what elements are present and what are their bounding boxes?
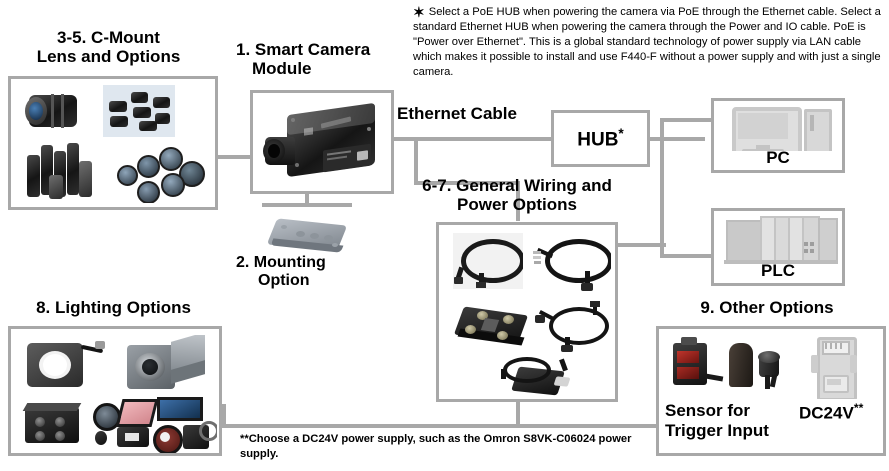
heading-mounting-line1: 2. Mounting — [236, 254, 376, 272]
label-sensor-line1: Sensor for — [665, 401, 795, 421]
label-plc: PLC — [714, 261, 842, 281]
heading-other: 9. Other Options — [648, 298, 886, 317]
section-lighting-options[interactable] — [8, 326, 222, 456]
heading-lighting: 8. Lighting Options — [6, 298, 221, 317]
section-lens-options[interactable] — [8, 76, 218, 210]
desktop-computer-icon — [726, 105, 836, 151]
device-pc[interactable]: PC — [711, 98, 845, 173]
label-pc: PC — [714, 148, 842, 168]
diagram-canvas: ✶ Select a PoE HUB when powering the cam… — [0, 0, 889, 471]
heading-lens-line1: 3-5. C-Mount — [6, 28, 211, 47]
hub-label: HUB — [577, 129, 618, 150]
heading-camera-line1: 1. Smart Camera — [236, 40, 406, 59]
connector-mount-bar — [262, 203, 352, 207]
photo-smart-camera — [261, 101, 389, 187]
photo-ring-light — [23, 337, 109, 395]
footnote-star: ✶ Select a PoE HUB when powering the cam… — [413, 5, 887, 79]
asterisk-marker: ✶ — [413, 5, 425, 20]
power-supply-icon — [807, 333, 863, 399]
connector-lighting-right — [222, 424, 522, 428]
section-other-options[interactable]: Sensor for Trigger Input DC24V** — [656, 326, 886, 456]
connector-to-plc — [660, 254, 712, 258]
connector-hub-right — [650, 137, 705, 141]
photo-ac-adapter — [497, 353, 583, 399]
label-power-supply-text: DC24V — [799, 404, 854, 423]
photo-coaxial-light — [119, 335, 215, 397]
label-power-superscript: ** — [854, 401, 864, 415]
heading-camera: 1. Smart Camera Module — [236, 40, 406, 78]
heading-mounting-line2: Option — [236, 272, 376, 290]
connector-wiring-to-plc — [618, 243, 666, 247]
label-sensor: Sensor for Trigger Input — [665, 401, 795, 440]
section-wiring-power[interactable] — [436, 222, 618, 402]
device-plc[interactable]: PLC — [711, 208, 845, 286]
connector-lighting-up — [222, 404, 226, 428]
photo-ethernet-cable-coil — [453, 233, 523, 289]
photo-lighting-controller — [21, 401, 91, 451]
photo-lens-barrel-group — [25, 141, 97, 203]
heading-lens: 3-5. C-Mount Lens and Options — [6, 28, 211, 66]
label-sensor-line2: Trigger Input — [665, 421, 795, 441]
heading-wiring-line1: 6-7. General Wiring and — [404, 176, 630, 195]
footnote-double-star: **Choose a DC24V power supply, such as t… — [240, 432, 650, 462]
photo-filter-discs — [115, 143, 207, 203]
connector-right-trunk — [660, 118, 664, 258]
hub-box[interactable]: HUB* — [551, 110, 650, 167]
photo-io-junction-block — [453, 297, 533, 353]
heading-wiring: 6-7. General Wiring and Power Options — [404, 176, 630, 214]
heading-mounting: 2. Mounting Option — [236, 254, 376, 290]
photoelectric-sensor-icon — [667, 335, 727, 395]
photo-c-mount-lens — [23, 89, 83, 133]
hub-superscript: * — [618, 126, 623, 141]
label-ethernet-cable: Ethernet Cable — [397, 104, 517, 124]
connector-other-left — [516, 424, 666, 428]
photo-power-io-cable — [533, 235, 611, 293]
section-smart-camera[interactable] — [250, 90, 394, 194]
hub-label-wrap: HUB* — [554, 126, 647, 151]
footnote-star-text: Select a PoE HUB when powering the camer… — [413, 6, 881, 78]
heading-camera-line2: Module — [236, 59, 406, 78]
label-power-supply: DC24V** — [799, 401, 863, 424]
heading-lens-line2: Lens and Options — [6, 47, 211, 66]
photo-lighting-accessories — [91, 397, 217, 453]
connector-to-pc — [660, 118, 712, 122]
photo-small-lens-cluster — [103, 85, 175, 137]
plc-rack-icon — [724, 216, 838, 264]
photo-io-cable-short — [535, 301, 611, 353]
heading-wiring-line2: Power Options — [404, 195, 630, 214]
photo-cylindrical-sensors — [725, 337, 797, 395]
